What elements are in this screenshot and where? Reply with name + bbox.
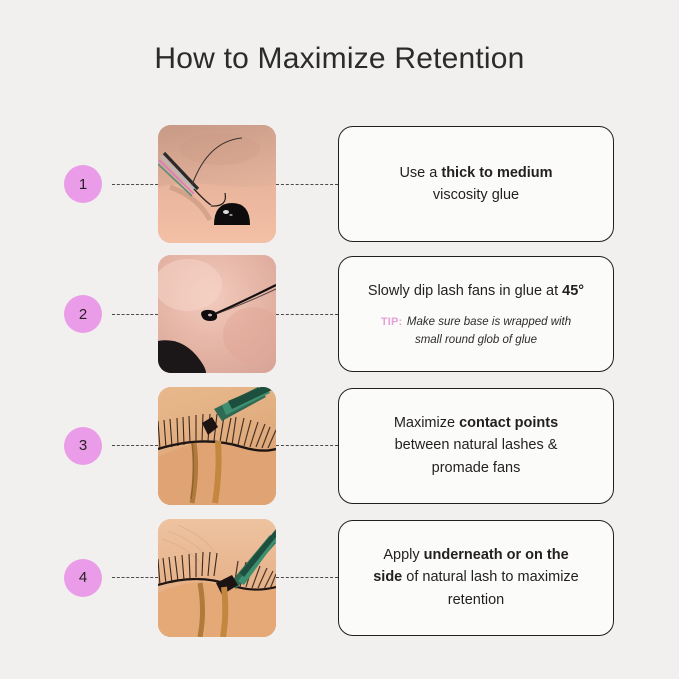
- text-segment-bold: underneath or on the: [424, 547, 569, 563]
- connector-badge-to-photo: [112, 314, 158, 315]
- step-number-label: 4: [79, 570, 87, 585]
- card-text-line: retention: [448, 589, 504, 611]
- step-number-badge: 1: [64, 165, 102, 203]
- connector-photo-to-card: [276, 577, 338, 578]
- tip-block: TIP: Make sure base is wrapped with smal…: [381, 309, 571, 349]
- text-segment: between natural lashes &: [395, 437, 558, 453]
- step-photo: [158, 519, 276, 637]
- tip-label: TIP:: [381, 316, 403, 328]
- tip-text-line: Make sure base is wrapped with: [407, 316, 571, 328]
- text-segment: of natural lash to maximize: [402, 569, 579, 585]
- text-segment: Apply: [383, 547, 423, 563]
- step-photo: [158, 387, 276, 505]
- lash-underneath-application-icon: [158, 519, 276, 637]
- step-text-card: Apply underneath or on the side of natur…: [338, 520, 614, 636]
- step-number-badge: 3: [64, 427, 102, 465]
- text-segment: viscosity glue: [433, 187, 519, 203]
- connector-photo-to-card: [276, 445, 338, 446]
- step-number-cell: 2: [0, 254, 110, 374]
- step-number-cell: 4: [0, 516, 110, 639]
- step-photo: [158, 125, 276, 243]
- connector-badge-to-photo: [112, 184, 158, 185]
- step-row: 1: [0, 124, 679, 244]
- step-row: 2: [0, 254, 679, 374]
- connector-badge-to-photo: [112, 577, 158, 578]
- card-text-line: side of natural lash to maximize: [373, 566, 579, 588]
- step-number-label: 3: [79, 438, 87, 453]
- step-number-cell: 3: [0, 385, 110, 506]
- step-number-label: 1: [79, 177, 87, 192]
- card-text-line: Slowly dip lash fans in glue at 45°: [368, 280, 584, 302]
- lash-contact-points-icon: [158, 387, 276, 505]
- text-segment: promade fans: [432, 460, 521, 476]
- connector-photo-to-card: [276, 314, 338, 315]
- infographic-page: How to Maximize Retention 1: [0, 0, 679, 679]
- step-text-card: Slowly dip lash fans in glue at 45° TIP:…: [338, 256, 614, 372]
- card-text-line: promade fans: [432, 457, 521, 479]
- text-segment-bold: contact points: [459, 415, 558, 431]
- step-number-label: 2: [79, 307, 87, 322]
- text-segment-bold: 45°: [562, 283, 584, 299]
- connector-photo-to-card: [276, 184, 338, 185]
- step-row: 4: [0, 516, 679, 639]
- step-number-badge: 2: [64, 295, 102, 333]
- step-row: 3: [0, 385, 679, 506]
- card-text-line: Maximize contact points: [394, 412, 558, 434]
- card-text-line: between natural lashes &: [395, 434, 558, 456]
- tweezers-glue-drop-icon: [158, 125, 276, 243]
- tip-text-line: small round glob of glue: [381, 332, 571, 349]
- page-title: How to Maximize Retention: [0, 42, 679, 76]
- card-text-line: viscosity glue: [433, 184, 519, 206]
- step-text-card: Maximize contact points between natural …: [338, 388, 614, 504]
- card-text-line: Apply underneath or on the: [383, 544, 568, 566]
- text-segment: retention: [448, 592, 504, 608]
- text-segment: Slowly dip lash fans in glue at: [368, 283, 562, 299]
- step-number-badge: 4: [64, 559, 102, 597]
- step-number-cell: 1: [0, 124, 110, 244]
- lash-fan-glue-dip-icon: [158, 255, 276, 373]
- connector-badge-to-photo: [112, 445, 158, 446]
- text-segment: Maximize: [394, 415, 459, 431]
- text-segment-bold: side: [373, 569, 402, 585]
- text-segment-bold: thick to medium: [441, 165, 552, 181]
- step-photo: [158, 255, 276, 373]
- step-text-card: Use a thick to medium viscosity glue: [338, 126, 614, 242]
- text-segment: Use a: [399, 165, 441, 181]
- card-text-line: Use a thick to medium: [399, 162, 552, 184]
